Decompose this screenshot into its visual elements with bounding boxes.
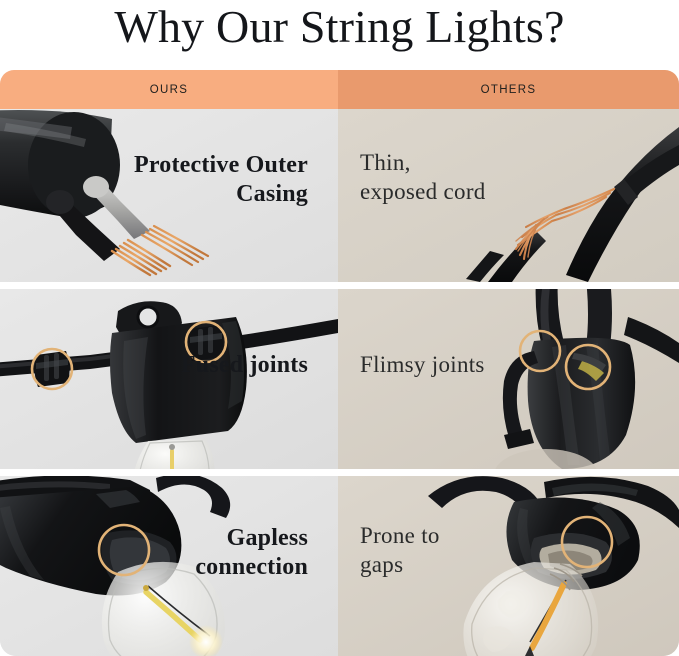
table-row: Protective Outer Casing <box>0 109 679 282</box>
label-others-row-3: Prone to gaps <box>360 522 440 579</box>
cell-others-connection: Prone to gaps <box>338 476 679 656</box>
table-row: Gapless connection <box>0 476 679 656</box>
label-ours-row-3: Gapless connection <box>195 524 308 583</box>
cell-ours-casing: Protective Outer Casing <box>0 109 338 282</box>
table-header: OURS OTHERS <box>0 70 679 109</box>
comparison-infographic: Why Our String Lights? OURS OTHERS <box>0 0 679 656</box>
label-others-row-2: Flimsy joints <box>360 351 485 380</box>
cell-others-casing: Thin, exposed cord <box>338 109 679 282</box>
cell-others-joints: Flimsy joints <box>338 289 679 469</box>
label-ours-row-1: Protective Outer Casing <box>134 151 308 210</box>
column-header-others: OTHERS <box>338 70 679 109</box>
comparison-table: OURS OTHERS <box>0 70 679 656</box>
cell-ours-connection: Gapless connection <box>0 476 338 656</box>
column-header-ours: OURS <box>0 70 338 109</box>
table-row: Fused joints <box>0 289 679 469</box>
label-others-row-1: Thin, exposed cord <box>360 149 486 206</box>
cell-ours-joints: Fused joints <box>0 289 338 469</box>
page-title: Why Our String Lights? <box>0 0 679 58</box>
label-ours-row-2: Fused joints <box>181 351 308 380</box>
